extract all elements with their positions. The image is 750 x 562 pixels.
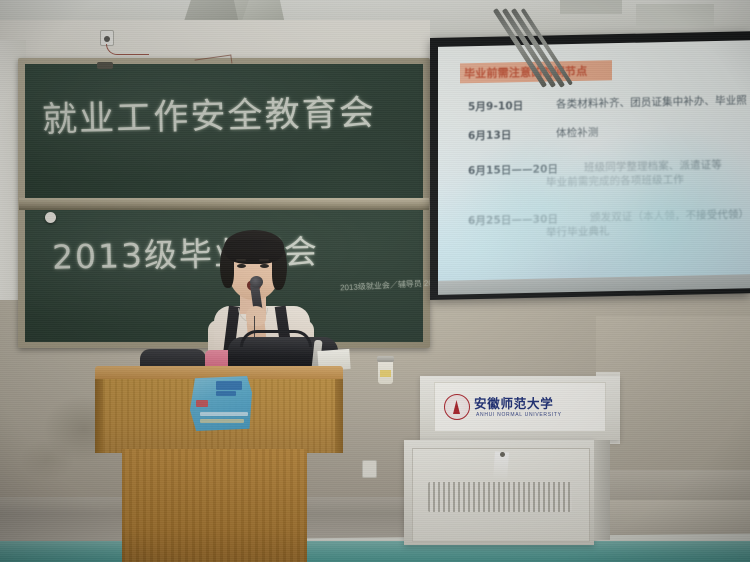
speaker-eyebrow-right [259, 259, 269, 261]
sticker-graphic-bar-1 [216, 381, 242, 390]
microphone-head [250, 276, 263, 288]
university-name-chinese: 安徽师范大学 [474, 393, 554, 412]
slide-row-desc-3: 颁发双证（本人领，不接受代领） [590, 207, 749, 224]
sticker-red-mark [196, 400, 208, 407]
projection-screen: 毕业前需注意的时间节点 5月9-10日 各类材料补齐、团员证集中补办、毕业照 6… [430, 31, 750, 300]
ceiling-light-panel [560, 0, 622, 14]
handbag-strap [240, 330, 312, 347]
classroom-photo: 就业工作安全教育会 2013级毕业班会 2013级就业会／辅导员 2017.5.… [0, 0, 750, 562]
cabinet-lock-knob[interactable] [500, 452, 505, 457]
blackboard-clip [97, 62, 113, 69]
platform-step-upper [606, 470, 750, 504]
podium-top-surface [95, 366, 343, 379]
jar-label [380, 370, 391, 377]
wall-power-socket [362, 460, 377, 478]
university-logo-icon [444, 394, 470, 420]
speaker-eye-right [260, 264, 269, 268]
ceiling-fan-blade-secondary [234, 0, 284, 20]
slide-row-desc-2: 班级同学整理档案、派遣证等 [584, 158, 722, 175]
slide-row-desc2-3: 举行毕业典礼 [546, 224, 610, 239]
slide-row-date-3: 6月25日——30日 [468, 211, 558, 228]
sticker-graphic-bar-2 [216, 391, 236, 396]
sticker-text-line-1 [200, 412, 248, 416]
camera-wire [106, 44, 149, 55]
slide-row-desc2-2: 毕业前需完成的各项班级工作 [546, 173, 684, 190]
slide-row-desc-1: 体检补测 [556, 125, 598, 140]
slide-row-date-0: 5月9-10日 [468, 98, 523, 114]
wall-stain-secondary [20, 440, 74, 480]
cabinet-side-panel [594, 440, 610, 540]
jar-lid [377, 356, 394, 362]
slide-row-desc-0: 各类材料补齐、团员证集中补办、毕业照 [556, 93, 747, 111]
cabinet-vent-grille [428, 482, 572, 512]
blackboard-chalk-rail [19, 198, 429, 210]
university-name-english: ANHUI NORMAL UNIVERSITY [476, 412, 562, 418]
ceiling-light-panel-right [636, 4, 714, 26]
projection-screen-surface: 毕业前需注意的时间节点 5月9-10日 各类材料补齐、团员证集中补办、毕业照 6… [438, 40, 750, 293]
floor-teal [0, 541, 750, 562]
sticker-text-line-2 [200, 419, 244, 423]
speaker-eye-left [237, 264, 246, 268]
blackboard-heading-line1: 就业工作安全教育会 [42, 85, 377, 143]
slide-row-date-2: 6月15日——20日 [468, 161, 558, 178]
speaker-headband [226, 240, 282, 249]
speaker-eyebrow-left [236, 259, 246, 261]
slide-row-date-1: 6月13日 [468, 127, 511, 143]
podium-base [122, 449, 307, 562]
blackboard-magnet [45, 212, 56, 223]
